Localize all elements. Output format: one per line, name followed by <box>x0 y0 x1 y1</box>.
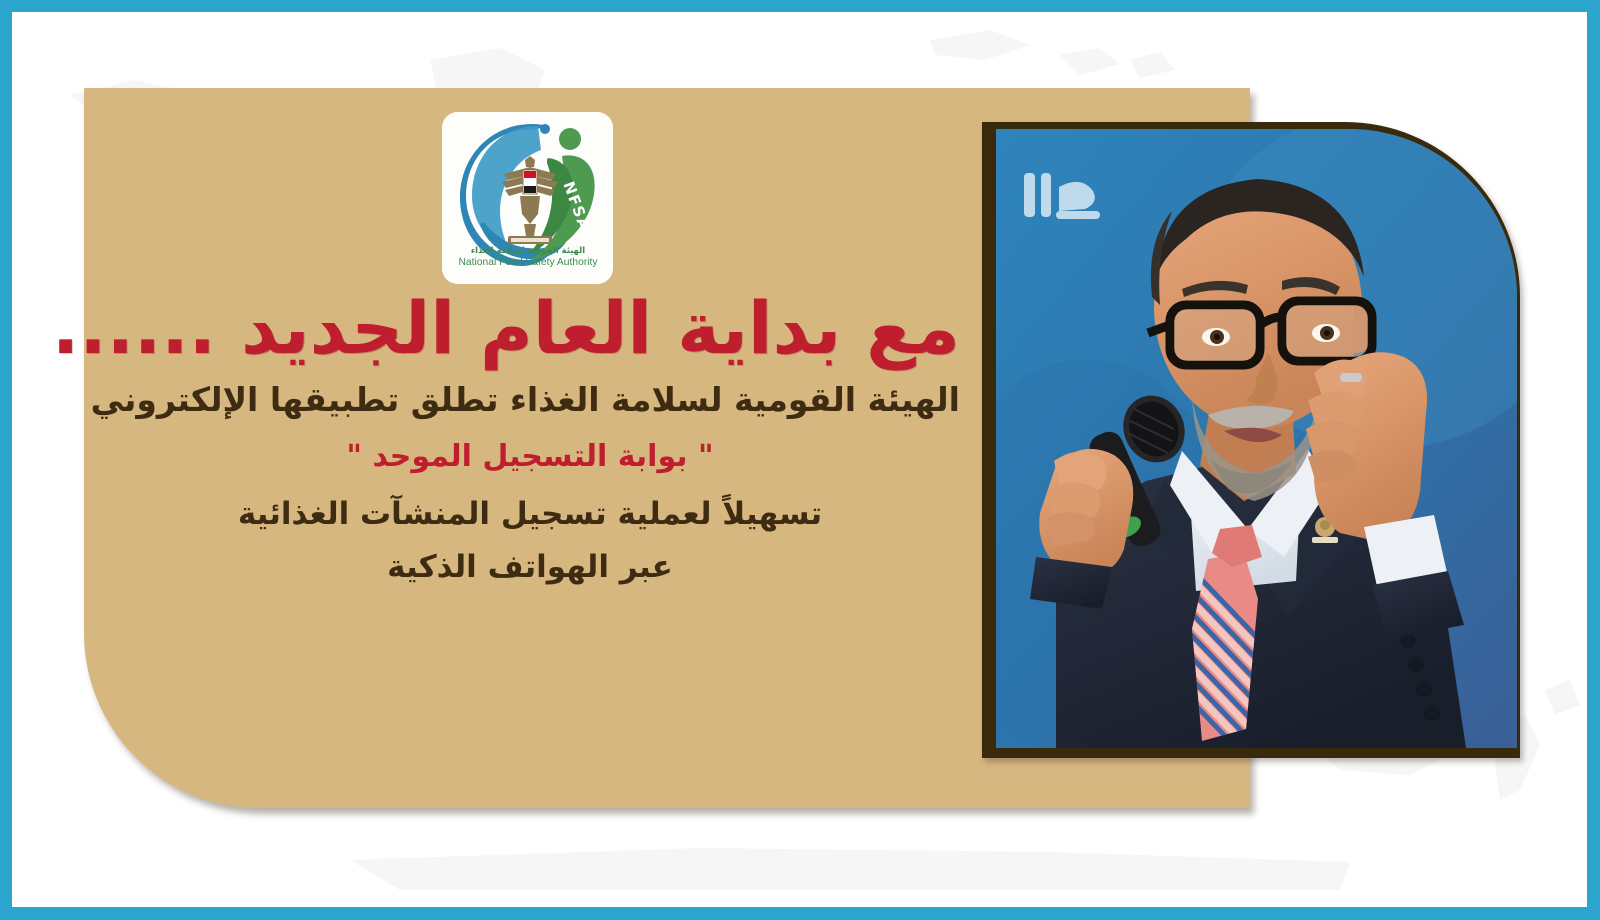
logo-english-caption: National Food Safety Authority <box>458 257 598 268</box>
headline: مع بداية العام الجديد ...... <box>100 292 960 365</box>
subtitle-line-3: عبر الهواتف الذكية <box>100 545 960 590</box>
poster-canvas: NFSA <box>0 0 1600 920</box>
app-name: " بوابة التسجيل الموحد " <box>100 437 960 476</box>
logo-arabic-caption: الهيئة القومية لسلامة الغذاء <box>471 245 585 256</box>
speaker-photo <box>996 129 1517 748</box>
nfsa-logo: NFSA <box>442 112 613 284</box>
speaker-photo-frame <box>982 122 1520 758</box>
frame-bottom-border <box>0 907 1600 920</box>
announcement-text-block: مع بداية العام الجديد ...... الهيئة القو… <box>100 292 960 590</box>
frame-top-border <box>0 0 1600 12</box>
frame-right-border <box>1587 0 1600 920</box>
subtitle-line-1: الهيئة القومية لسلامة الغذاء تطلق تطبيقه… <box>100 379 960 420</box>
subtitle-line-2: تسهيلاً لعملية تسجيل المنشآت الغذائية <box>100 492 960 537</box>
frame-left-border <box>0 0 12 920</box>
